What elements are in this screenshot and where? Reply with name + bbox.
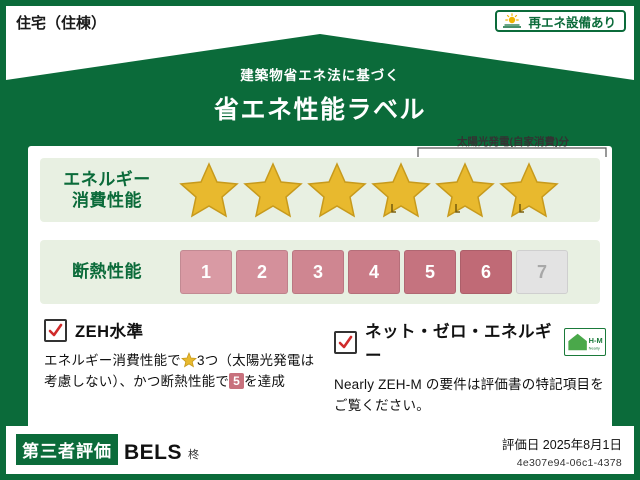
solar-bracket-label: 太陽光発電(自家消費)分 xyxy=(420,134,606,149)
zeh-logo-icon: H-M Nearly xyxy=(564,328,606,356)
title-main: 省エネ性能ラベル xyxy=(6,90,634,126)
insulation-level-1: 1 xyxy=(180,250,232,294)
insulation-performance-row: 断熱性能 1 2 3 4 5 6 7 xyxy=(40,240,600,304)
zeh-standard-panel: ZEH水準 エネルギー消費性能で3つ（太陽光発電は考慮しない）、かつ断熱性能で5… xyxy=(44,318,316,393)
zeh-standard-body: エネルギー消費性能で3つ（太陽光発電は考慮しない）、かつ断熱性能で5を達成 xyxy=(44,351,316,393)
evaluation-date: 評価日 2025年8月1日 xyxy=(502,434,622,453)
rating-card: エネルギー 消費性能 xyxy=(28,146,612,446)
star-icon-solar xyxy=(434,160,496,220)
star-icon xyxy=(242,160,304,220)
insulation-level-group: 1 2 3 4 5 6 7 xyxy=(174,250,568,294)
energy-performance-label-text: エネルギー 消費性能 xyxy=(40,169,174,212)
svg-text:H-M: H-M xyxy=(589,336,603,345)
zeh-standard-title: ZEH水準 xyxy=(75,318,144,342)
renewable-energy-badge-label: 再エネ設備あり xyxy=(528,12,616,31)
zeh-body-post: を達成 xyxy=(244,374,285,389)
star-icon-solar xyxy=(498,160,560,220)
sun-icon xyxy=(501,13,523,29)
insulation-performance-label-text: 断熱性能 xyxy=(40,261,174,282)
zeh-standard-header: ZEH水準 xyxy=(44,318,316,342)
star-icon-solar xyxy=(370,160,432,220)
zeh-body-pre: エネルギー消費性能で xyxy=(44,353,181,368)
bels-block: 第三者評価 BELS 柊 xyxy=(16,434,199,465)
insulation-level-7: 7 xyxy=(516,250,568,294)
evaluation-id: 4e307e94-06c1-4378 xyxy=(502,457,622,469)
zeh-body-chip: 5 xyxy=(229,373,244,389)
insulation-level-5: 5 xyxy=(404,250,456,294)
renewable-energy-badge: 再エネ設備あり xyxy=(495,10,626,32)
star-icon-inline xyxy=(181,352,197,368)
bels-mark: 柊 xyxy=(188,446,199,465)
zeh-body-star-count: 3つ xyxy=(197,353,218,368)
bels-jp-label: 第三者評価 xyxy=(16,434,118,465)
green-body: 建築物省エネ法に基づく 省エネ性能ラベル エネルギー 消費性能 xyxy=(6,34,634,430)
checkbox-checked-icon xyxy=(334,331,357,354)
energy-performance-label: 住宅（住棟） 再エネ設備あり xyxy=(0,0,640,480)
house-type-text: 住宅（住棟） xyxy=(16,12,106,33)
insulation-level-3: 3 xyxy=(292,250,344,294)
net-zero-energy-body: Nearly ZEH-M の要件は評価書の特記項目をご覧ください。 xyxy=(334,375,606,417)
energy-label-line2: 消費性能 xyxy=(40,190,174,211)
footer: 第三者評価 BELS 柊 評価日 2025年8月1日 4e307e94-06c1… xyxy=(6,426,634,474)
energy-label-line1: エネルギー xyxy=(40,169,174,190)
svg-text:Nearly: Nearly xyxy=(589,345,600,350)
net-zero-energy-panel: ネット・ゼロ・エネルギー H-M Nearly Nearly ZEH-M の要件… xyxy=(334,318,606,417)
energy-star-group xyxy=(174,160,560,220)
title-block: 建築物省エネ法に基づく 省エネ性能ラベル xyxy=(6,64,634,126)
checkbox-checked-icon xyxy=(44,319,67,342)
insulation-level-4: 4 xyxy=(348,250,400,294)
title-sub: 建築物省エネ法に基づく xyxy=(6,64,634,84)
star-icon xyxy=(306,160,368,220)
net-zero-energy-title: ネット・ゼロ・エネルギー xyxy=(365,318,552,366)
insulation-level-2: 2 xyxy=(236,250,288,294)
net-zero-energy-header: ネット・ゼロ・エネルギー H-M Nearly xyxy=(334,318,606,366)
energy-performance-row: エネルギー 消費性能 xyxy=(40,158,600,222)
star-icon xyxy=(178,160,240,220)
evaluation-block: 評価日 2025年8月1日 4e307e94-06c1-4378 xyxy=(502,434,622,469)
insulation-level-6: 6 xyxy=(460,250,512,294)
bels-en-label: BELS xyxy=(124,441,182,465)
